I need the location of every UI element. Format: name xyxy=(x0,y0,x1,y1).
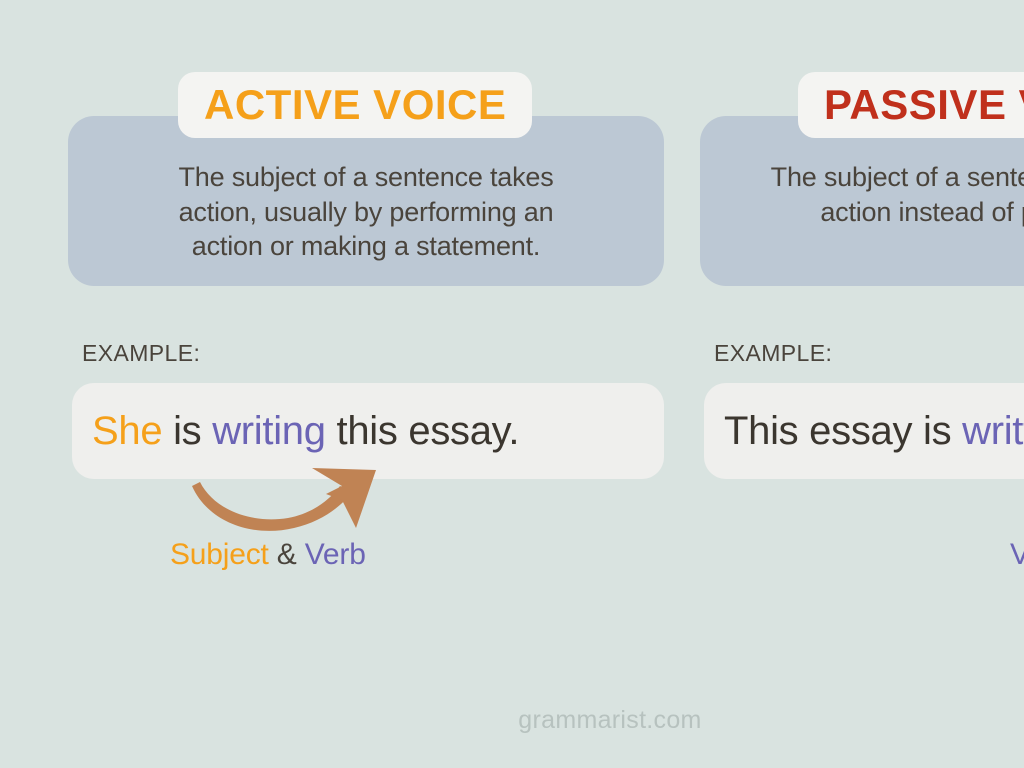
sentence-word-object-active: this essay. xyxy=(326,409,520,453)
sentence-word-aux-passive: is xyxy=(912,409,962,453)
watermark-grammarist: grammarist.com xyxy=(0,706,1024,735)
sentence-word-subject-active: She xyxy=(92,409,162,453)
definition-card-passive: The subject of a sentence receives the a… xyxy=(700,116,1024,286)
title-passive-voice: PASSIVE VOICE xyxy=(824,84,1024,126)
legend-active: Subject & Verb xyxy=(170,538,366,572)
legend-passive: Verb xyxy=(1010,538,1024,572)
legend-verb-active: Verb xyxy=(305,538,366,571)
sentence-word-subject-passive: This essay xyxy=(724,409,912,453)
title-active-voice: ACTIVE VOICE xyxy=(204,84,506,126)
definition-card-active: The subject of a sentence takes action, … xyxy=(68,116,664,286)
panel-active-voice: The subject of a sentence takes action, … xyxy=(68,0,668,620)
panel-passive-voice: The subject of a sentence receives the a… xyxy=(700,0,1024,620)
sentence-word-aux-active: is xyxy=(162,409,212,453)
example-sentence-active: She is writing this essay. xyxy=(92,411,519,451)
legend-verb-passive: Verb xyxy=(1010,538,1024,571)
sentence-word-verb-passive: written xyxy=(962,409,1024,453)
example-sentence-passive: This essay is written by her. xyxy=(724,411,1024,451)
example-label-active: EXAMPLE: xyxy=(82,340,200,367)
infographic-canvas: The subject of a sentence takes action, … xyxy=(0,0,1024,768)
example-box-active: She is writing this essay. xyxy=(72,383,664,479)
legend-subject-active: Subject xyxy=(170,538,269,571)
definition-text-active: The subject of a sentence takes action, … xyxy=(86,160,646,264)
example-label-passive: EXAMPLE: xyxy=(714,340,832,367)
legend-separator-active: & xyxy=(269,538,305,571)
title-pill-passive: PASSIVE VOICE xyxy=(798,72,1024,138)
example-box-passive: This essay is written by her. xyxy=(704,383,1024,479)
sentence-word-verb-active: writing xyxy=(212,409,326,453)
title-pill-active: ACTIVE VOICE xyxy=(178,72,532,138)
definition-text-passive: The subject of a sentence receives the a… xyxy=(718,160,1024,229)
